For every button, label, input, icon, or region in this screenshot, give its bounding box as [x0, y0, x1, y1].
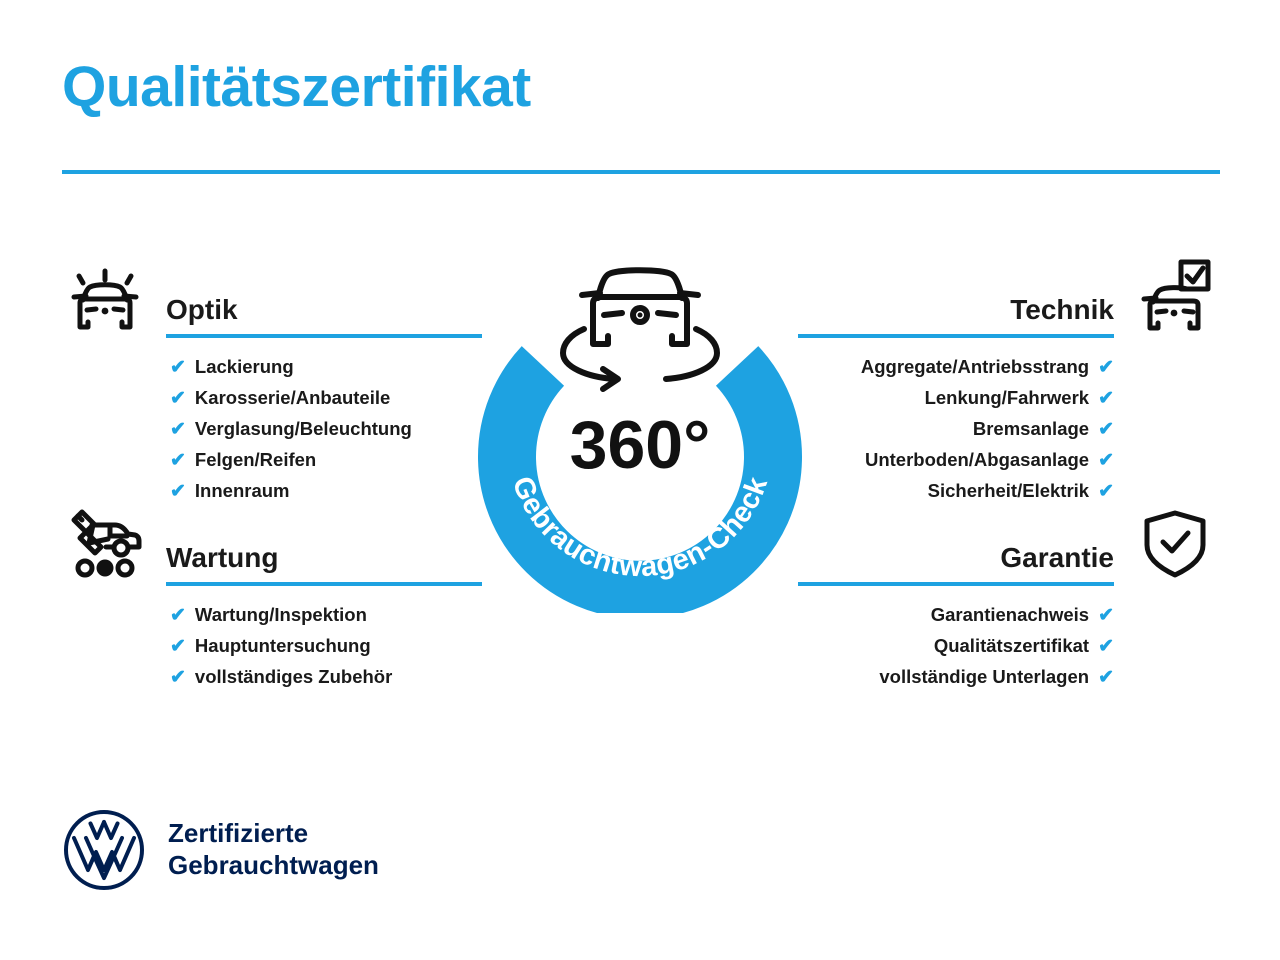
- check-icon: ✔: [170, 632, 186, 662]
- check-icon: ✔: [1098, 601, 1114, 631]
- list-item-label: Karosserie/Anbauteile: [195, 383, 390, 413]
- list-item: vollständige Unterlagen ✔: [798, 662, 1114, 693]
- check-icon: ✔: [170, 663, 186, 693]
- check-icon: ✔: [170, 415, 186, 445]
- vw-logo-icon: [62, 808, 146, 892]
- section-wartung: Wartung ✔ Wartung/Inspektion ✔ Hauptunte…: [62, 500, 482, 693]
- list-item-label: Qualitätszertifikat: [934, 631, 1089, 661]
- pencil-car-service-icon: [62, 500, 148, 586]
- list-item-label: vollständiges Zubehör: [195, 662, 392, 692]
- page-title: Qualitätszertifikat: [62, 56, 531, 119]
- car-rotate-360-icon: [563, 270, 717, 389]
- section-technik-underline: [798, 334, 1114, 338]
- list-item-label: Hauptuntersuchung: [195, 631, 371, 661]
- section-optik-header: Optik: [62, 252, 482, 338]
- footer-logo-line1: Zertifizierte: [168, 818, 379, 850]
- check-icon: ✔: [170, 353, 186, 383]
- section-wartung-underline: [166, 582, 482, 586]
- section-optik-title: Optik: [166, 295, 482, 334]
- check-icon: ✔: [170, 446, 186, 476]
- check-icon: ✔: [1098, 384, 1114, 414]
- section-wartung-header: Wartung: [62, 500, 482, 586]
- list-item-label: Garantienachweis: [931, 600, 1089, 630]
- check-icon: ✔: [170, 384, 186, 414]
- list-item-label: vollständige Unterlagen: [879, 662, 1089, 692]
- list-item: ✔ vollständiges Zubehör: [170, 662, 482, 693]
- section-garantie-title-wrap: Garantie: [798, 543, 1132, 586]
- list-item: Bremsanlage ✔: [798, 414, 1114, 445]
- footer-logo-text: Zertifizierte Gebrauchtwagen: [168, 818, 379, 881]
- section-garantie-list: Garantienachweis ✔ Qualitätszertifikat ✔…: [798, 600, 1218, 693]
- section-optik-list: ✔ Lackierung ✔ Karosserie/Anbauteile ✔ V…: [62, 352, 482, 507]
- list-item: ✔ Hauptuntersuchung: [170, 631, 482, 662]
- check-icon: ✔: [1098, 632, 1114, 662]
- section-technik-list: Aggregate/Antriebsstrang ✔ Lenkung/Fahrw…: [798, 352, 1218, 507]
- check-icon: ✔: [1098, 353, 1114, 383]
- check-icon: ✔: [170, 601, 186, 631]
- list-item: Unterboden/Abgasanlage ✔: [798, 445, 1114, 476]
- check-icon: ✔: [1098, 415, 1114, 445]
- list-item: ✔ Felgen/Reifen: [170, 445, 482, 476]
- title-divider: [62, 170, 1220, 174]
- section-optik-title-wrap: Optik: [148, 295, 482, 338]
- list-item-label: Unterboden/Abgasanlage: [865, 445, 1089, 475]
- badge-360-gebrauchtwagen-check: Gebrauchtwagen-Check 360°: [462, 243, 818, 613]
- list-item-label: Lenkung/Fahrwerk: [925, 383, 1089, 413]
- list-item: ✔ Wartung/Inspektion: [170, 600, 482, 631]
- section-technik: Technik Aggregate/Ant: [798, 252, 1218, 507]
- section-technik-title-wrap: Technik: [798, 295, 1132, 338]
- list-item: Aggregate/Antriebsstrang ✔: [798, 352, 1114, 383]
- list-item-label: Felgen/Reifen: [195, 445, 316, 475]
- section-garantie-underline: [798, 582, 1114, 586]
- section-optik-underline: [166, 334, 482, 338]
- list-item-label: Aggregate/Antriebsstrang: [861, 352, 1089, 382]
- list-item-label: Bremsanlage: [973, 414, 1089, 444]
- list-item-label: Verglasung/Beleuchtung: [195, 414, 412, 444]
- section-optik: Optik ✔ Lackierung ✔ Karosserie/Anbautei…: [62, 252, 482, 507]
- footer-logo: Zertifizierte Gebrauchtwagen: [62, 808, 379, 892]
- section-garantie-header: Garantie: [798, 500, 1218, 586]
- section-garantie-title: Garantie: [798, 543, 1114, 582]
- section-technik-title: Technik: [798, 295, 1114, 334]
- check-icon: ✔: [1098, 446, 1114, 476]
- check-icon: ✔: [1098, 663, 1114, 693]
- list-item-label: Wartung/Inspektion: [195, 600, 367, 630]
- car-checkbox-icon: [1132, 252, 1218, 338]
- list-item: Qualitätszertifikat ✔: [798, 631, 1114, 662]
- car-shine-icon: [62, 252, 148, 338]
- list-item: Lenkung/Fahrwerk ✔: [798, 383, 1114, 414]
- section-technik-header: Technik: [798, 252, 1218, 338]
- list-item: ✔ Verglasung/Beleuchtung: [170, 414, 482, 445]
- section-wartung-list: ✔ Wartung/Inspektion ✔ Hauptuntersuchung…: [62, 600, 482, 693]
- list-item: Garantienachweis ✔: [798, 600, 1114, 631]
- list-item-label: Lackierung: [195, 352, 294, 382]
- list-item: ✔ Karosserie/Anbauteile: [170, 383, 482, 414]
- footer-logo-line2: Gebrauchtwagen: [168, 850, 379, 882]
- section-wartung-title: Wartung: [166, 543, 482, 582]
- shield-check-icon: [1132, 500, 1218, 586]
- list-item: ✔ Lackierung: [170, 352, 482, 383]
- section-wartung-title-wrap: Wartung: [148, 543, 482, 586]
- section-garantie: Garantie Garantienachweis ✔ Qualitätszer…: [798, 500, 1218, 693]
- badge-center-label: 360°: [570, 407, 711, 483]
